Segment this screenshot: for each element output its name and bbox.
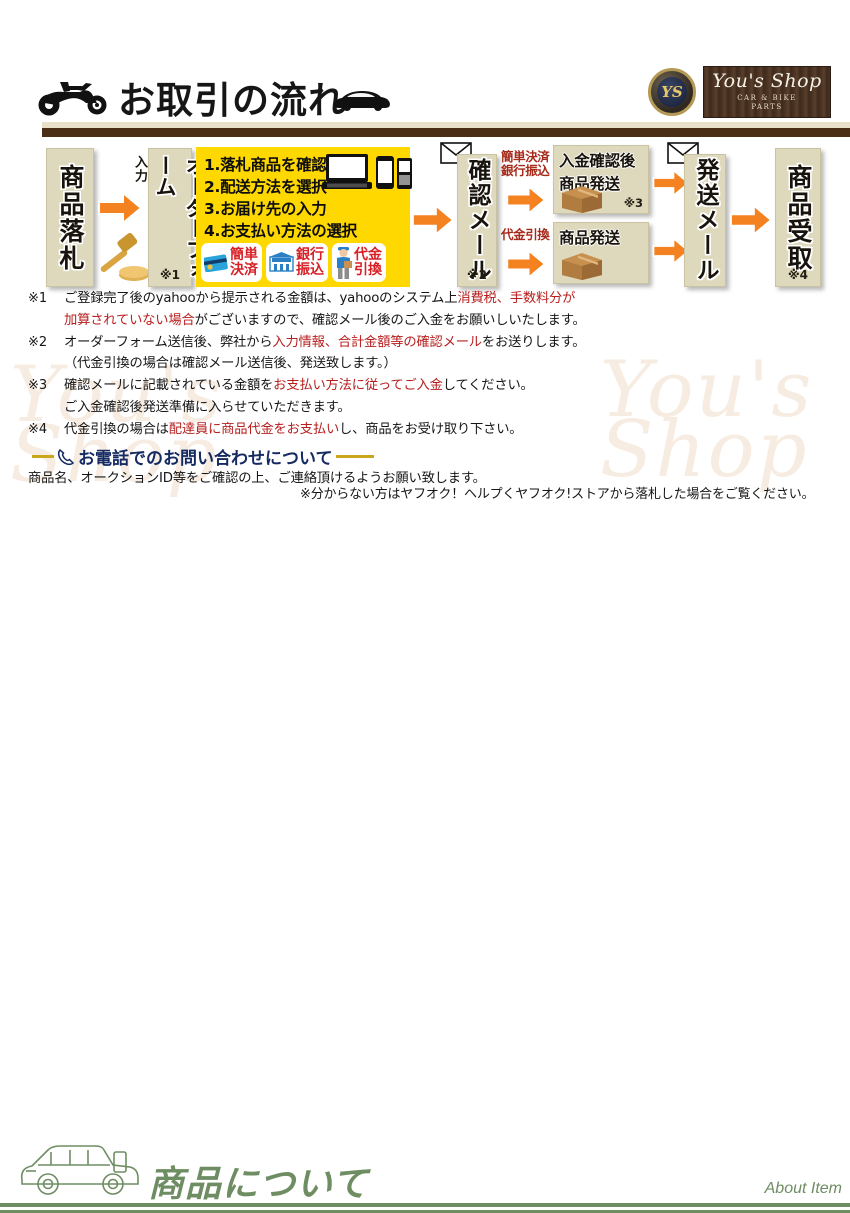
parcel-box-icon xyxy=(562,186,602,213)
order-step-1: 1.落札商品を確認 xyxy=(204,153,326,175)
phone-inquiry-title: お電話でのお問い合わせについて xyxy=(78,444,333,469)
bank-icon xyxy=(269,252,294,273)
featurephone-icon xyxy=(397,158,412,189)
branch-label-cod: 代金引換 xyxy=(501,228,549,242)
heading-rule-left xyxy=(32,455,54,458)
flow-box-line1: 商品発送 xyxy=(554,223,648,248)
flow-box-note: ※3 xyxy=(624,196,643,210)
flow-arrow-2-icon xyxy=(411,202,455,238)
emblem-initials: YS xyxy=(657,77,687,107)
order-step-2: 2.配送方法を選択 xyxy=(204,175,326,197)
footer-rule-top xyxy=(0,1203,850,1207)
flow-step-auction-win: 商品落札 xyxy=(46,148,94,287)
footnote-number: ※2 xyxy=(28,336,64,349)
suv-icon xyxy=(18,1138,148,1198)
flow-arrow-branch-top-icon xyxy=(503,184,549,216)
payment-badge-bank-transfer: 銀行振込 xyxy=(266,243,328,282)
flow-step-label: 商品落札 xyxy=(52,164,88,272)
shop-name: You's Shop xyxy=(712,72,821,91)
flow-step-order-form: オーダーフォーム 入力 ※1 xyxy=(148,148,192,287)
transaction-flow-diagram: 商品落札 オーダーフォーム 入力 ※1 1.落札商品を確認 2.配送方法を選択 … xyxy=(0,140,850,292)
footnote-number: ※1 xyxy=(28,292,64,305)
flow-step-confirmation-mail: 確認メール ※2 xyxy=(457,154,497,287)
heading-rule-right xyxy=(336,455,374,458)
payment-methods: 簡単決済 銀行振込 xyxy=(201,243,386,282)
smartphone-icon xyxy=(376,156,394,189)
shop-logo: You's Shop CAR & BIKEPARTS xyxy=(703,66,831,118)
footnote-number: ※4 xyxy=(28,423,64,436)
flow-box-ship-cod: 商品発送 xyxy=(553,222,649,284)
footer-title-en: About Item xyxy=(765,1180,842,1198)
car-icon xyxy=(333,88,391,112)
shop-tagline: CAR & BIKEPARTS xyxy=(737,94,797,112)
flow-arrow-3-icon xyxy=(729,202,773,238)
footer-title: 商品について xyxy=(148,1155,369,1207)
order-form-steps-panel: 1.落札商品を確認 2.配送方法を選択 3.お届け先の入力 4.お支払い方法の選… xyxy=(196,147,410,287)
footnote-text: ご登録完了後のyahooから提示される金額は、yahooのシステム上消費税、手数… xyxy=(64,292,575,305)
footnote-text: オーダーフォーム送信後、弊社から入力情報、合計金額等の確認メールをお送りします。 xyxy=(64,336,585,349)
footnote-2: ※2 オーダーフォーム送信後、弊社から入力情報、合計金額等の確認メールをお送りし… xyxy=(28,336,828,349)
footnote-2-sub: （代金引換の場合は確認メール送信後、発送致します。） xyxy=(64,357,828,370)
shop-emblem-icon: YS xyxy=(648,68,696,116)
footnotes: ※1 ご登録完了後のyahooから提示される金額は、yahooのシステム上消費税… xyxy=(28,292,828,445)
footnote-text: 代金引換の場合は配達員に商品代金をお支払いし、商品をお受け取り下さい。 xyxy=(64,423,522,436)
footnote-3: ※3 確認メールに記載されている金額をお支払い方法に従ってご入金してください。 xyxy=(28,379,828,392)
flow-step-note: ※2 xyxy=(458,268,496,282)
page-footer: 商品について About Item xyxy=(0,560,850,659)
page-header: お取引の流れ YS You's Shop CAR & BIKEPARTS xyxy=(0,0,850,142)
footnote-4: ※4 代金引換の場合は配達員に商品代金をお支払いし、商品をお受け取り下さい。 xyxy=(28,423,828,436)
footnote-number: ※3 xyxy=(28,379,64,392)
footnote-text: 確認メールに記載されている金額をお支払い方法に従ってご入金してください。 xyxy=(64,379,534,392)
badge-label: 代金引換 xyxy=(354,248,382,277)
motorcycle-icon xyxy=(34,78,112,116)
parcel-box-icon xyxy=(562,253,602,280)
flow-arrow-branch-bottom-icon xyxy=(503,248,549,280)
branch-label-prepay: 簡単決済銀行振込 xyxy=(501,150,549,179)
flow-step-label: 発送メール xyxy=(688,158,722,283)
footnote-1: ※1 ご登録完了後のyahooから提示される金額は、yahooのシステム上消費税… xyxy=(28,292,828,305)
order-step-4: 4.お支払い方法の選択 xyxy=(204,219,357,241)
delivery-person-icon xyxy=(335,247,352,279)
flow-step-sublabel: 入力 xyxy=(130,155,149,183)
gavel-icon xyxy=(94,228,152,286)
telephone-icon xyxy=(57,448,75,466)
flow-step-receive-item: 商品受取 ※4 xyxy=(775,148,821,287)
badge-label: 銀行振込 xyxy=(296,248,324,277)
flow-box-ship-after-payment: 入金確認後 商品発送 ※3 xyxy=(553,145,649,214)
phone-inquiry-heading: お電話でのお問い合わせについて xyxy=(32,444,374,469)
flow-box-line1: 入金確認後 xyxy=(554,146,648,171)
page-title: お取引の流れ xyxy=(118,70,346,124)
header-rule-brown xyxy=(42,128,850,137)
footnote-3-line2: ご入金確認後発送準備に入らせていただきます。 xyxy=(64,401,828,414)
flow-step-label: 確認メール xyxy=(460,158,494,283)
payment-badge-cash-on-delivery: 代金引換 xyxy=(332,243,386,282)
laptop-icon xyxy=(322,152,372,192)
phone-inquiry-note: ※分からない方はヤフオク！ヘルプくヤフオク!ストアから落札した場合をご覧ください… xyxy=(300,483,814,502)
flow-step-label: 商品受取 xyxy=(780,164,816,272)
payment-badge-easy-settlement: 簡単決済 xyxy=(201,243,262,282)
credit-card-icon xyxy=(204,254,228,272)
footnote-1-line2: 加算されていない場合がございますので、確認メール後のご入金をお願いしいたします。 xyxy=(64,314,828,327)
order-step-3: 3.お届け先の入力 xyxy=(204,197,326,219)
flow-step-shipping-mail: 発送メール xyxy=(684,154,726,287)
flow-step-note: ※4 xyxy=(776,268,820,282)
badge-label: 簡単決済 xyxy=(230,248,258,277)
flow-arrow-1-icon xyxy=(97,190,143,226)
flow-step-note: ※1 xyxy=(149,268,191,282)
